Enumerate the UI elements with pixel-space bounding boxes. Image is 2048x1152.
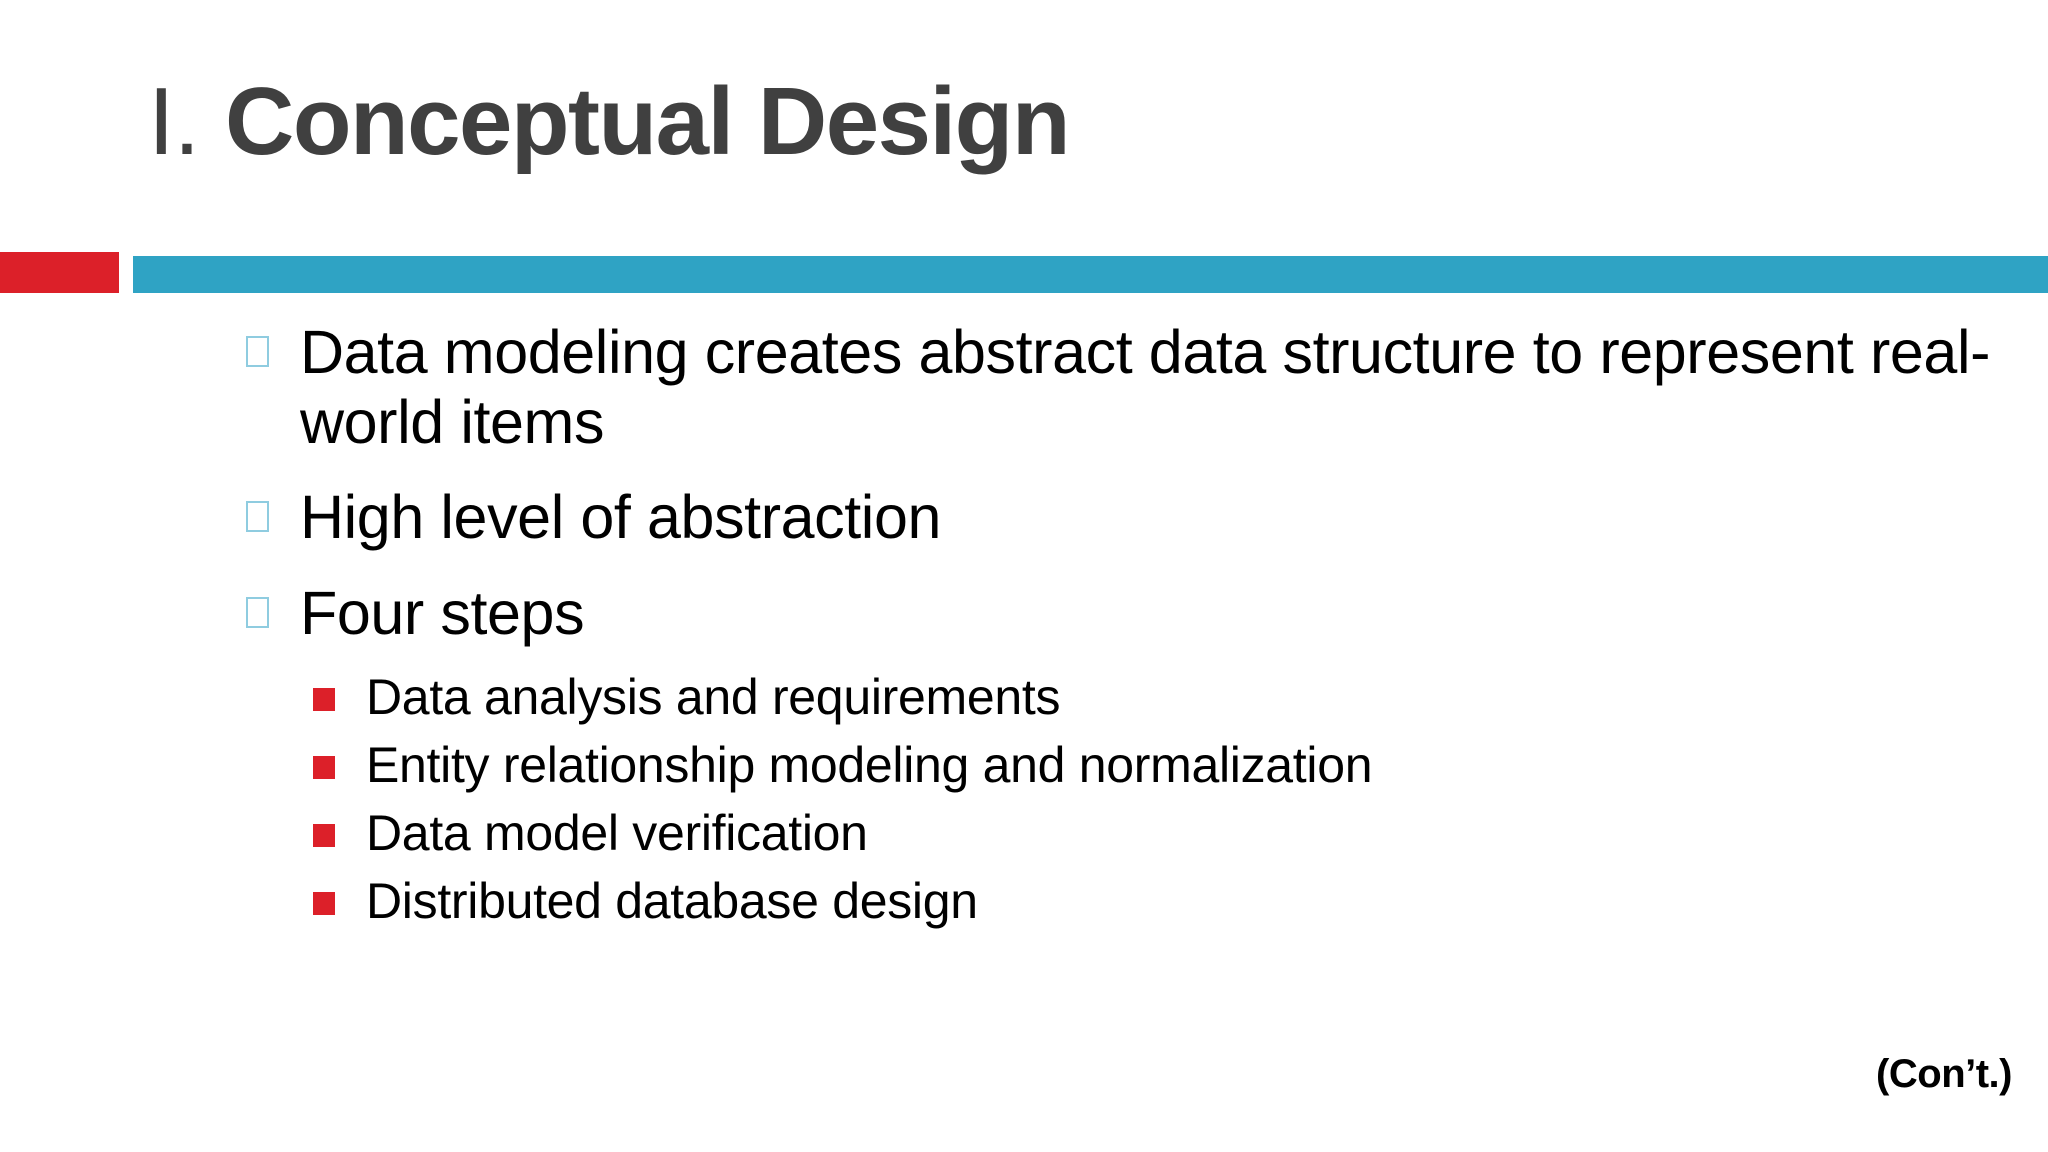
accent-bar-red xyxy=(0,252,119,293)
bullet-item-level2-label: Data analysis and requirements xyxy=(366,669,1060,725)
bullet-item-level2-label: Distributed database design xyxy=(366,873,978,929)
spacer xyxy=(0,656,2048,668)
hollow-box-bullet-icon xyxy=(246,336,269,367)
hollow-box-bullet-icon xyxy=(246,501,269,532)
red-square-bullet-icon xyxy=(313,824,335,847)
slide-title-numeral: I. xyxy=(148,68,199,175)
bullet-item-level1-label: Data modeling creates abstract data stru… xyxy=(300,318,1990,456)
bullet-item-level2: Data analysis and requirements xyxy=(0,668,2048,726)
bullet-item-level1-label: Four steps xyxy=(300,579,584,647)
slide-title: I. Conceptual Design xyxy=(148,74,1948,204)
hollow-box-bullet-icon xyxy=(246,597,269,628)
spacer xyxy=(0,561,2048,579)
bullet-item-level2: Data model verification xyxy=(0,804,2048,862)
continued-note: (Con’t.) xyxy=(1876,1052,2012,1097)
slide-body: Data modeling creates abstract data stru… xyxy=(0,318,2048,940)
accent-bar-blue xyxy=(133,256,2048,293)
bullet-item-level2-label: Data model verification xyxy=(366,805,868,861)
slide-title-heading: Conceptual Design xyxy=(225,68,1069,175)
red-square-bullet-icon xyxy=(313,756,335,779)
bullet-item-level2: Entity relationship modeling and normali… xyxy=(0,736,2048,794)
slide-canvas: I. Conceptual Design Data modeling creat… xyxy=(0,0,2048,1152)
red-square-bullet-icon xyxy=(313,892,335,915)
bullet-item-level2: Distributed database design xyxy=(0,872,2048,930)
bullet-item-level1: High level of abstraction xyxy=(0,483,2048,553)
spacer xyxy=(0,465,2048,483)
bullet-item-level2-label: Entity relationship modeling and normali… xyxy=(366,737,1372,793)
bullet-item-level1: Four steps xyxy=(0,579,2048,649)
bullet-item-level1: Data modeling creates abstract data stru… xyxy=(0,318,2048,457)
red-square-bullet-icon xyxy=(313,688,335,711)
bullet-item-level1-label: High level of abstraction xyxy=(300,483,941,551)
